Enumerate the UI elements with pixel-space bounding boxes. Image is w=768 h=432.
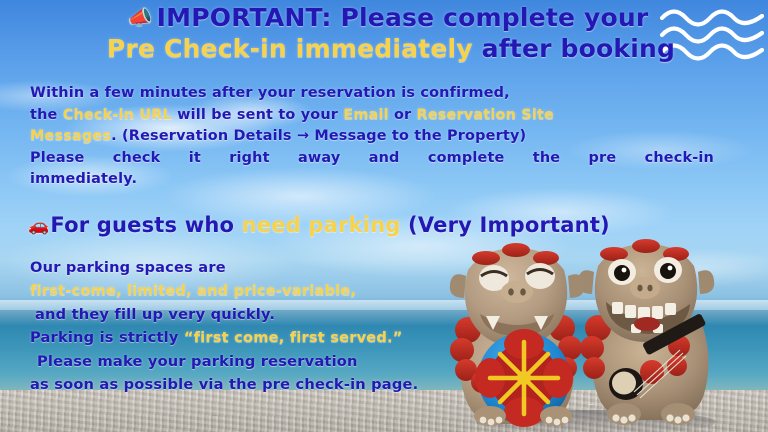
- parking-heading-part-1: For guests who: [50, 213, 241, 237]
- parking-line-2-highlight: first-come, limited, and price-variable,: [30, 279, 550, 302]
- parking-line-5: Please make your parking reservation: [30, 350, 550, 373]
- intro-l3-b: . (Reservation Details → Message to the …: [111, 128, 526, 144]
- pre-checkin-notice-poster: 📣IMPORTANT: Please complete your Pre Che…: [0, 0, 768, 432]
- car-icon: 🚗: [28, 216, 49, 236]
- headline-highlight-pre-checkin: Pre Check-in immediately: [107, 34, 473, 63]
- intro-line-2: the Check-in URL will be sent to your Em…: [30, 105, 730, 127]
- intro-line-1: Within a few minutes after your reservat…: [30, 83, 730, 105]
- intro-paragraph: Within a few minutes after your reservat…: [30, 83, 730, 191]
- intro-highlight-messages: Messages: [30, 128, 111, 144]
- parking-line-3: and they fill up very quickly.: [30, 303, 550, 326]
- parking-section-heading: 🚗For guests who need parking (Very Impor…: [28, 212, 610, 239]
- intro-l2-c: will be sent to your: [172, 107, 343, 123]
- intro-l2-e: or: [389, 107, 417, 123]
- intro-line-5: immediately.: [30, 169, 730, 191]
- headline-line-1: 📣IMPORTANT: Please complete your: [0, 2, 768, 33]
- headline-line-2: Pre Check-in immediately after booking: [0, 33, 768, 64]
- intro-line-4: Please check it right away and complete …: [30, 148, 714, 170]
- headline-line-1-text: IMPORTANT: Please complete your: [157, 3, 649, 32]
- parking-l4-highlight: “first come, first served.”: [184, 329, 403, 346]
- poster-text-content: 📣IMPORTANT: Please complete your Pre Che…: [0, 0, 768, 432]
- intro-line-3: Messages. (Reservation Details → Message…: [30, 126, 730, 148]
- parking-heading-highlight: need parking: [242, 213, 401, 237]
- intro-highlight-email: Email: [343, 107, 388, 123]
- intro-l2-a: the: [30, 107, 63, 123]
- megaphone-icon: 📣: [128, 5, 153, 29]
- parking-l4-a: Parking is strictly: [30, 329, 184, 346]
- headline-block: 📣IMPORTANT: Please complete your Pre Che…: [0, 2, 768, 64]
- intro-highlight-checkin-url: Check-in URL: [63, 107, 172, 123]
- parking-line-6: as soon as possible via the pre check-in…: [30, 373, 550, 396]
- parking-heading-part-2: (Very Important): [401, 213, 610, 237]
- headline-line-2-rest: after booking: [473, 34, 675, 63]
- parking-line-4: Parking is strictly “first come, first s…: [30, 326, 550, 349]
- intro-highlight-reservation-site: Reservation Site: [417, 107, 554, 123]
- parking-paragraph: Our parking spaces are first-come, limit…: [30, 256, 550, 396]
- parking-line-1: Our parking spaces are: [30, 256, 550, 279]
